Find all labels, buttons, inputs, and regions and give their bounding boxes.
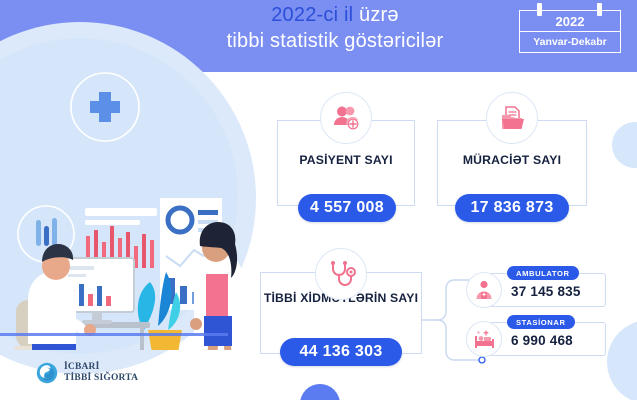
page-title: 2022-ci il üzrə tibbi statistik göstəric…	[150, 4, 520, 53]
doctor-standing-hand	[190, 318, 202, 330]
subitem-ambulatory-badge: AMBULATOR	[507, 266, 579, 280]
decor-circle-bottom	[300, 384, 340, 400]
doctor-seated-legs	[32, 344, 76, 350]
patient-person-icon	[466, 272, 502, 308]
plus-icon	[90, 92, 120, 122]
test-tube-icon	[36, 220, 41, 246]
chart-sheet-bar	[85, 220, 140, 225]
doctor-standing-shirt	[206, 274, 228, 318]
test-tube-icon	[52, 218, 57, 246]
medical-team-illustration	[0, 60, 250, 350]
calendar-box: 2022 Yanvar-Dekabr	[519, 10, 621, 53]
logo-line-2: TİBBİ SIĞORTA	[64, 373, 138, 384]
title-year: 2022-ci il	[271, 4, 353, 26]
subitem-inpatient-badge: STASİONAR	[507, 315, 575, 329]
card-request-count-label: MÜRACİƏT SAYI	[438, 153, 586, 168]
logo-mark-icon	[36, 362, 58, 384]
card-request-count-value: 17 836 873	[455, 194, 569, 222]
add-user-icon	[320, 92, 372, 144]
calendar-range: Yanvar-Dekabr	[520, 32, 620, 52]
hospital-bed-icon	[466, 321, 502, 357]
connector-dot	[479, 357, 485, 363]
doctor-standing-leg	[224, 346, 234, 350]
title-line-1: 2022-ci il üzrə	[150, 4, 520, 28]
logo-line-1: İCBARİ	[64, 362, 138, 373]
logo-text: İCBARİ TİBBİ SIĞORTA	[64, 362, 138, 383]
doctor-standing-skirt	[204, 316, 232, 346]
subitem-inpatient[interactable]: STASİONAR 6 990 468	[484, 322, 606, 356]
folder-documents-icon	[486, 92, 538, 144]
card-patient-count-value: 4 557 008	[298, 194, 396, 222]
title-line-2: tibbi statistik göstəricilər	[150, 30, 520, 54]
card-patient-count-label: PASİYENT SAYI	[278, 153, 414, 168]
decor-circle-right-bottom	[607, 320, 637, 400]
decor-circle-right-top	[612, 122, 637, 168]
subitem-inpatient-value: 6 990 468	[511, 333, 601, 348]
infographic-canvas: 2022-ci il üzrə tibbi statistik göstəric…	[0, 0, 637, 400]
test-tube-icon	[44, 226, 49, 246]
calendar-year: 2022	[520, 11, 620, 32]
illustration-ground-line	[0, 333, 228, 336]
title-suffix: üzrə	[353, 4, 398, 26]
subitem-ambulatory-value: 37 145 835	[511, 284, 601, 299]
subitem-ambulatory[interactable]: AMBULATOR 37 145 835	[484, 273, 606, 307]
chart-sheet-bar	[85, 208, 157, 216]
calendar-badge: 2022 Yanvar-Dekabr	[519, 7, 621, 53]
stethoscope-icon	[315, 248, 367, 300]
organization-logo: İCBARİ TİBBİ SIĞORTA	[36, 362, 138, 384]
doctor-standing-leg	[206, 346, 218, 350]
card-service-count-value: 44 136 303	[280, 338, 402, 366]
